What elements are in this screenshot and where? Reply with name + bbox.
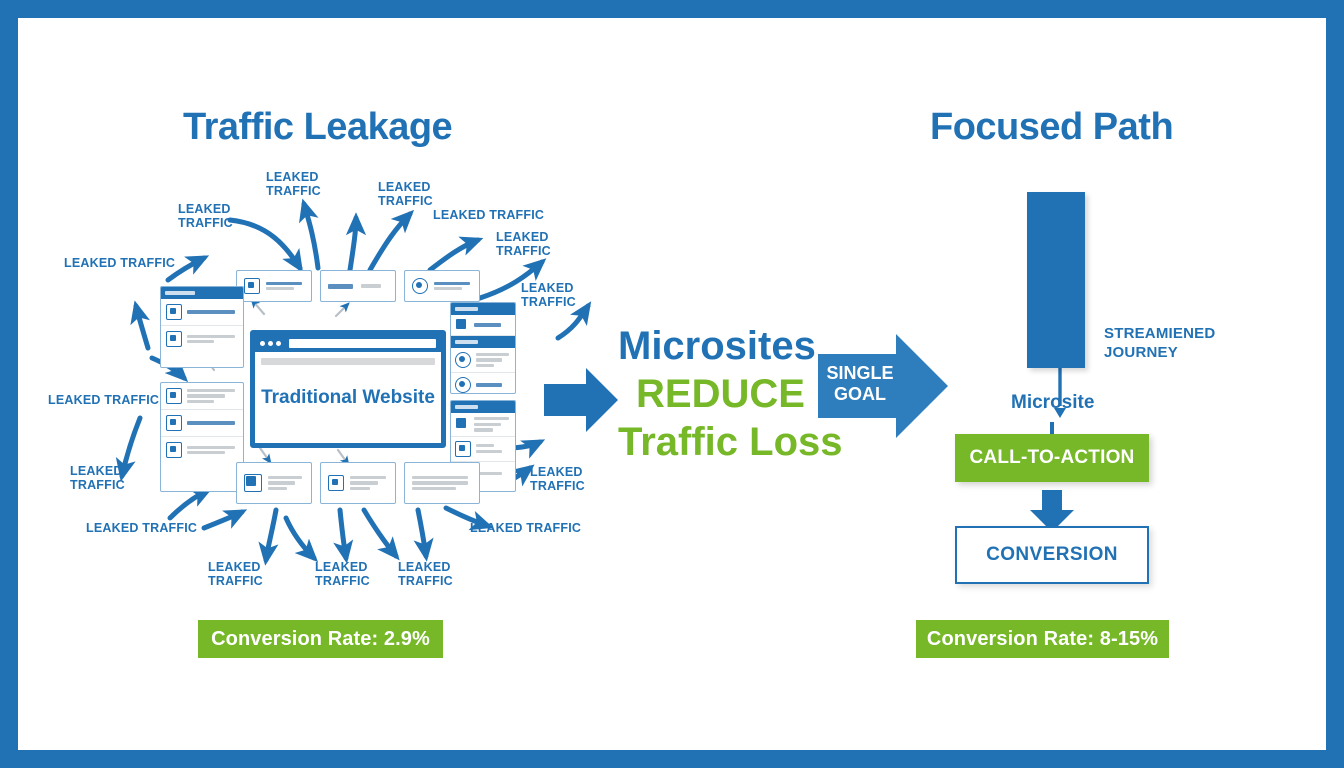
row-icon bbox=[166, 442, 182, 458]
leaked-traffic-label: LEAKED TRAFFIC bbox=[470, 521, 581, 535]
leaked-traffic-label: LEAKED TRAFFIC bbox=[378, 180, 433, 208]
tile-icon bbox=[412, 278, 428, 294]
card-row bbox=[161, 410, 243, 437]
site-tile-bottom-1[interactable] bbox=[236, 462, 312, 504]
left-column-title: Traffic Leakage bbox=[183, 106, 452, 149]
leaked-traffic-label: LEAKED TRAFFIC bbox=[521, 281, 576, 309]
leaked-traffic-label: LEAKED TRAFFIC bbox=[178, 202, 233, 230]
microsite-label: Microsite bbox=[1011, 392, 1094, 414]
site-tile-top-1[interactable] bbox=[236, 270, 312, 302]
row-icon bbox=[455, 377, 471, 393]
infographic-inner-frame: Traffic Leakage bbox=[16, 16, 1328, 752]
leaked-traffic-label: LEAKED TRAFFIC bbox=[398, 560, 453, 588]
leaked-traffic-label: LEAKED TRAFFIC bbox=[530, 465, 585, 493]
right-conversion-rate-badge: Conversion Rate: 8-15% bbox=[916, 620, 1169, 658]
conversion-label: CONVERSION bbox=[986, 544, 1118, 566]
row-icon bbox=[455, 441, 471, 457]
site-tile-top-2[interactable] bbox=[320, 270, 396, 302]
tile-lines bbox=[412, 476, 472, 491]
card-row bbox=[161, 326, 243, 352]
tile-lines bbox=[268, 476, 304, 491]
card-row bbox=[161, 299, 243, 326]
row-icon bbox=[455, 352, 471, 368]
browser-dot-icon bbox=[260, 341, 265, 346]
row-icon bbox=[166, 388, 182, 404]
tile-lines bbox=[328, 284, 355, 289]
tile-icon bbox=[244, 278, 260, 294]
center-line-2: REDUCE bbox=[636, 370, 843, 418]
leaked-traffic-label: LEAKED TRAFFIC bbox=[496, 230, 551, 258]
card-row bbox=[161, 383, 243, 410]
card-header bbox=[451, 401, 515, 413]
tile-lines bbox=[361, 284, 388, 287]
row-icon bbox=[455, 318, 469, 332]
left-conversion-rate-text: Conversion Rate: 2.9% bbox=[211, 628, 430, 651]
leaked-traffic-label: LEAKED TRAFFIC bbox=[315, 560, 370, 588]
right-conversion-rate-text: Conversion Rate: 8-15% bbox=[927, 628, 1158, 651]
card-row bbox=[451, 413, 515, 437]
row-icon bbox=[166, 304, 182, 320]
browser-url-bar[interactable] bbox=[289, 339, 436, 348]
microsite-traffic-bar bbox=[1027, 192, 1085, 368]
center-block-arrow bbox=[544, 368, 618, 432]
site-card-right-top[interactable] bbox=[450, 302, 516, 394]
center-line-3: Traffic Loss bbox=[618, 418, 843, 466]
center-message: Microsites REDUCE Traffic Loss bbox=[618, 322, 843, 466]
leaked-traffic-label: LEAKED TRAFFIC bbox=[48, 393, 159, 407]
card-row bbox=[161, 437, 243, 463]
row-icon bbox=[455, 417, 469, 431]
row-icon bbox=[166, 415, 182, 431]
row-icon bbox=[166, 331, 182, 347]
browser-dot-icon bbox=[268, 341, 273, 346]
single-goal-label: SINGLE GOAL bbox=[824, 363, 896, 405]
tile-lines bbox=[434, 282, 472, 291]
browser-dot-icon bbox=[276, 341, 281, 346]
tile-icon bbox=[244, 474, 262, 492]
leaked-traffic-label: LEAKED TRAFFIC bbox=[86, 521, 197, 535]
leaked-traffic-label: LEAKED TRAFFIC bbox=[64, 256, 175, 270]
site-tile-top-3[interactable] bbox=[404, 270, 480, 302]
tile-lines bbox=[350, 476, 388, 491]
placeholder-line bbox=[261, 358, 435, 365]
site-card-left-top[interactable] bbox=[160, 286, 244, 368]
leaked-traffic-label: LEAKED TRAFFIC bbox=[208, 560, 263, 588]
call-to-action-box[interactable]: CALL-TO-ACTION bbox=[955, 434, 1149, 482]
tile-icon bbox=[328, 475, 344, 491]
traditional-website-label: Traditional Website bbox=[261, 387, 435, 409]
call-to-action-label: CALL-TO-ACTION bbox=[970, 447, 1135, 469]
card-header bbox=[451, 336, 515, 348]
leaked-traffic-label: LEAKED TRAFFIC bbox=[433, 208, 544, 222]
streamlined-journey-label: STREAMIENED JOURNEY bbox=[1104, 324, 1215, 362]
card-header bbox=[161, 287, 243, 299]
card-row bbox=[451, 348, 515, 373]
left-conversion-rate-badge: Conversion Rate: 2.9% bbox=[198, 620, 443, 658]
browser-viewport: Traditional Website bbox=[255, 352, 441, 415]
tile-lines bbox=[266, 282, 304, 291]
card-row bbox=[451, 437, 515, 462]
leaked-traffic-label: LEAKED TRAFFIC bbox=[266, 170, 321, 198]
infographic-canvas: Traffic Leakage bbox=[0, 0, 1344, 768]
browser-chrome-bar bbox=[255, 335, 441, 352]
conversion-box[interactable]: CONVERSION bbox=[955, 526, 1149, 584]
site-tile-bottom-2[interactable] bbox=[320, 462, 396, 504]
card-row bbox=[451, 373, 515, 394]
site-card-left-bottom[interactable] bbox=[160, 382, 244, 492]
right-column-title: Focused Path bbox=[930, 106, 1173, 149]
card-header bbox=[451, 303, 515, 315]
traditional-website-browser[interactable]: Traditional Website bbox=[250, 330, 446, 448]
leaked-traffic-label: LEAKED TRAFFIC bbox=[70, 464, 125, 492]
site-tile-bottom-3[interactable] bbox=[404, 462, 480, 504]
card-row bbox=[451, 315, 515, 336]
center-line-1: Microsites bbox=[618, 322, 843, 370]
